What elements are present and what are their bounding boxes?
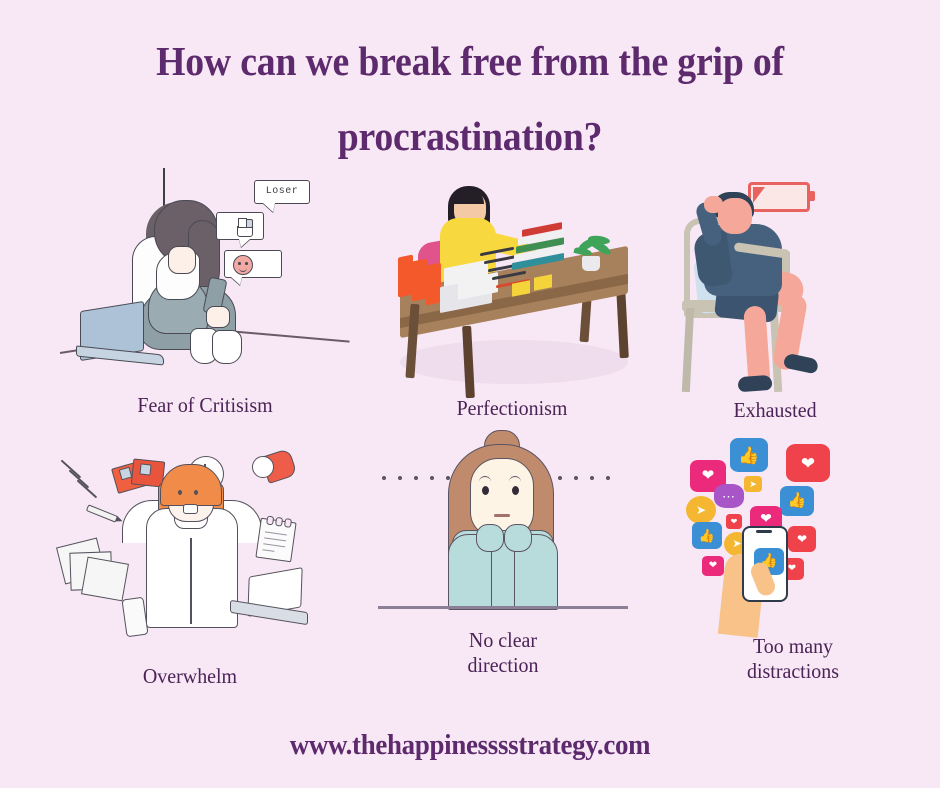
caption-line-1: Too many: [753, 634, 833, 658]
card-fear-of-criticism: Loser Fear of Critisism: [60, 168, 350, 418]
illustration-exhausted: [660, 176, 890, 398]
heart-glyph: ❤: [726, 514, 742, 529]
caption-exhausted: Exhausted: [666, 398, 885, 423]
page-title-line-2: procrastination?: [38, 99, 903, 174]
table-line: [378, 606, 628, 609]
paper-icon: [81, 557, 129, 602]
heart-glyph: ❤: [702, 556, 724, 576]
notepad-line: [264, 537, 286, 541]
speech-bubble-text: Loser: [255, 181, 309, 202]
heart-icon: ❤: [788, 526, 816, 552]
caption-line-2: distractions: [747, 659, 839, 683]
desk-leg-front-right: [616, 288, 629, 358]
card-exhausted: Exhausted: [660, 176, 890, 423]
speech-bubble-thumbs-down: [216, 212, 264, 240]
binder: [398, 255, 413, 298]
heart-glyph: ❤: [786, 444, 830, 482]
share-glyph: ➤: [686, 496, 716, 524]
notepad-line: [263, 543, 285, 547]
mouth: [494, 514, 510, 517]
thumbs-down-icon: [237, 217, 255, 235]
low-battery-icon: [748, 182, 810, 212]
eye-left: [482, 486, 489, 495]
share-icon: ➤: [744, 476, 762, 492]
fist-left: [476, 524, 504, 552]
eyebrow-right: [509, 476, 521, 482]
binder: [412, 259, 427, 302]
notepad-line: [262, 549, 274, 552]
pen-icon: [86, 504, 118, 522]
notepad-line: [265, 531, 287, 535]
notepad-icon: [255, 518, 296, 563]
sad-face-icon: [233, 255, 253, 275]
illustration-too-many-distractions: 👍 ❤ ❤ ➤ ⋯ 👍 ➤: [668, 436, 918, 634]
thumbs-up-icon: 👍: [692, 522, 722, 549]
speech-bubble-sad-face: [224, 250, 282, 278]
thumbs-up-icon: 👍: [730, 438, 768, 472]
card-overwhelm: Overwhelm: [40, 446, 340, 689]
caption-perfectionism: Perfectionism: [389, 396, 636, 421]
mouth: [183, 504, 198, 514]
desk-leg-front-left: [462, 326, 475, 398]
caption-overwhelm: Overwhelm: [48, 664, 333, 689]
shoe-left: [738, 375, 773, 392]
battery-fill: [753, 187, 765, 203]
notepad-ring: [275, 517, 283, 527]
floor-line-right: [228, 330, 350, 342]
caption-no-clear-direction: No clear direction: [384, 628, 622, 678]
caption-line-2: direction: [468, 653, 539, 677]
share-icon: ➤: [686, 496, 716, 524]
heart-icon: ❤: [726, 514, 742, 529]
heart-icon: ❤: [702, 556, 724, 576]
hand-holding-phone: [206, 306, 230, 328]
desk-shadow: [400, 340, 628, 384]
heart-icon: ❤: [786, 444, 830, 482]
thumbs-up-glyph: 👍: [730, 438, 768, 472]
phone-notch: [756, 530, 772, 533]
page-title-line-1: How can we break free from the grip of: [156, 38, 784, 84]
card-no-clear-direction: No clear direction: [378, 430, 628, 678]
illustration-fear-of-criticism: Loser: [60, 168, 350, 393]
motion-line: [61, 460, 82, 479]
shirt-placket: [190, 538, 192, 624]
chat-icon: ⋯: [714, 484, 744, 508]
folder-clip: [139, 463, 151, 475]
chair-leg-left: [682, 308, 694, 392]
shoe-right: [783, 353, 819, 375]
phone-icon: [121, 597, 148, 638]
thumbs-up-icon: 👍: [780, 486, 814, 516]
thumbs-up-glyph: 👍: [780, 486, 814, 516]
share-glyph: ➤: [744, 476, 762, 492]
eyes: [178, 490, 182, 495]
website-url[interactable]: www.thehappinesssstrategy.com: [19, 730, 921, 762]
sock-right: [212, 330, 242, 364]
caption-too-many-distractions: Too many distractions: [674, 634, 912, 684]
chat-glyph: ⋯: [714, 484, 744, 508]
hand-on-face: [168, 246, 196, 274]
caption-line-1: No clear: [469, 628, 537, 652]
eyebrow-left: [479, 476, 491, 482]
binder: [426, 263, 441, 306]
illustration-perfectionism: [382, 178, 642, 396]
caption-fear-of-criticism: Fear of Critisism: [67, 393, 343, 418]
cards-grid: Loser Fear of Critisism: [0, 168, 940, 728]
thumbs-up-glyph: 👍: [692, 522, 722, 549]
illustration-no-clear-direction: [378, 430, 628, 628]
notepad-ring: [284, 518, 292, 528]
hand-on-head: [704, 196, 723, 213]
motion-line: [77, 480, 98, 499]
page-title: How can we break free from the grip of p…: [38, 24, 903, 173]
card-too-many-distractions: 👍 ❤ ❤ ➤ ⋯ 👍 ➤: [668, 436, 918, 684]
megaphone-mouth: [252, 456, 274, 478]
notepad-ring: [266, 516, 274, 526]
illustration-overwhelm: [40, 446, 340, 646]
head: [718, 198, 752, 234]
card-perfectionism: Perfectionism: [382, 178, 642, 421]
hair: [160, 464, 222, 506]
heart-glyph: ❤: [788, 526, 816, 552]
thumb-grip: [239, 219, 253, 228]
eye-right: [512, 486, 519, 495]
fist-right: [504, 524, 532, 552]
speech-bubble-loser: Loser: [254, 180, 310, 204]
poster-canvas: How can we break free from the grip of p…: [0, 0, 940, 788]
motion-line: [69, 470, 90, 489]
megaphone-icon: [252, 452, 292, 480]
plant-pot: [582, 256, 600, 271]
